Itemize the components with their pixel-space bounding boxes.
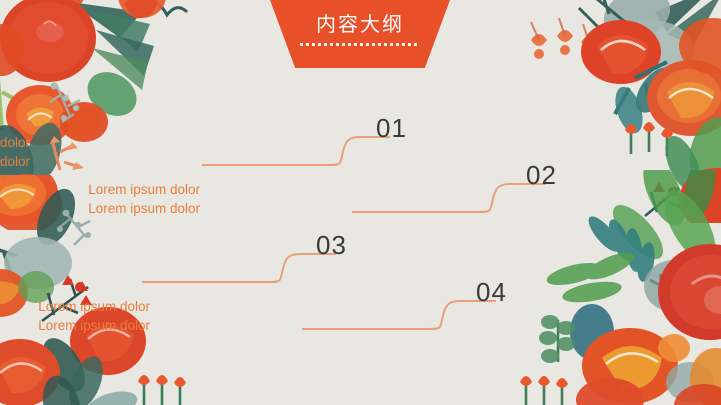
outline-item-01-text: Lorem ipsum dolor Lorem ipsum dolor [0,133,30,171]
outline-item-02-text: Lorem ipsum dolor Lorem ipsum dolor [88,180,200,218]
outline-item-01-line2: Lorem ipsum dolor [0,152,30,171]
outline-item-01-line1: Lorem ipsum dolor [0,133,30,152]
outline-item-02-line1: Lorem ipsum dolor [88,180,200,199]
page-title: 内容大纲 [316,14,404,34]
outline-item-04-line1: Lorem ipsum dolor [38,297,150,316]
outline-item-01-number: 01 [376,115,407,141]
outline-item-02-number: 02 [526,162,557,188]
outline-item-03-number: 03 [316,232,347,258]
banner-dashed-divider [300,43,420,46]
outline-item-04-text: Lorem ipsum dolor Lorem ipsum dolor [38,297,150,335]
outline-item-04-number: 04 [476,279,507,305]
slide-canvas: 内容大纲 Lorem ipsum dolor Lorem ipsum dolor… [0,0,721,405]
outline-item-02-line2: Lorem ipsum dolor [88,199,200,218]
outline-item-04-line2: Lorem ipsum dolor [38,316,150,335]
title-banner: 内容大纲 [270,0,450,68]
